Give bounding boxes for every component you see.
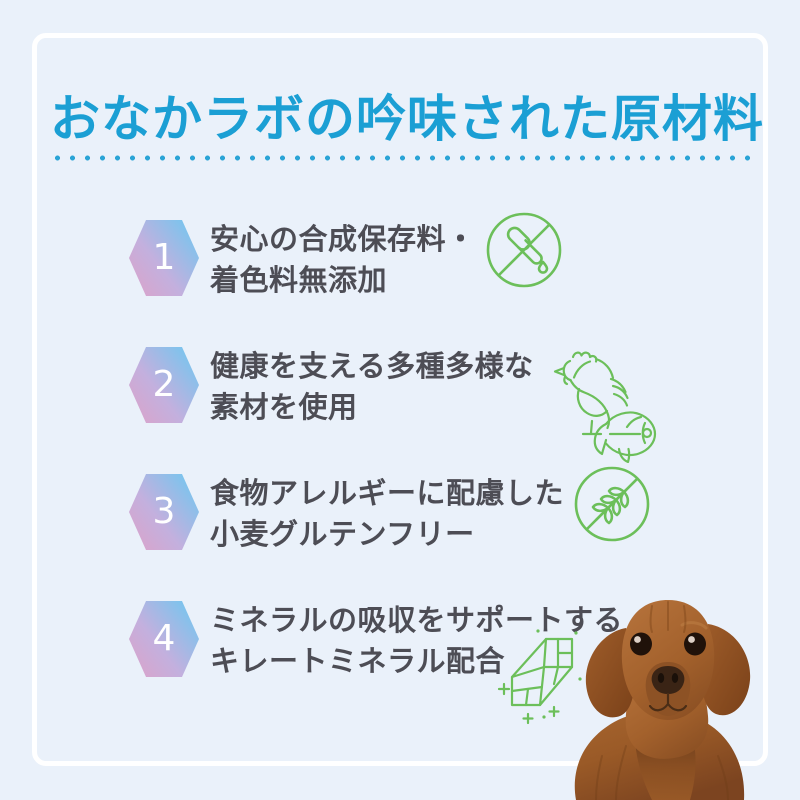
feature-label: ミネラルの吸収をサポートする キレートミネラル配合 (210, 589, 623, 683)
promo-card-page: おなかラボの吟味された原材料 1 安心の合成保存 (0, 0, 800, 800)
no-wheat-icon (568, 460, 656, 553)
feature-label: 安心の合成保存料・ 着色料無添加 (210, 208, 476, 302)
badge-number: 1 (128, 219, 200, 297)
no-dropper-icon (480, 206, 568, 299)
badge-number: 3 (128, 473, 200, 551)
number-badge-hexagon: 4 (128, 600, 200, 678)
list-item: 1 安心の合成保存料・ 着色料無添加 (128, 208, 728, 308)
header: おなかラボの吟味された原材料 (50, 92, 756, 161)
chicken-and-fish-icon (548, 341, 676, 468)
number-badge-hexagon: 1 (128, 219, 200, 297)
number-badge-hexagon: 2 (128, 346, 200, 424)
badge-number: 2 (128, 346, 200, 424)
number-badge-hexagon: 3 (128, 473, 200, 551)
list-item: 3 食物アレルギーに配慮した 小麦グルテンフリー (128, 462, 728, 562)
title-dotted-divider (50, 155, 756, 161)
feature-label: 健康を支える多種多様な 素材を使用 (210, 335, 534, 429)
list-item: 4 ミネラルの吸収をサポートする キレートミネラル配合 (128, 589, 728, 689)
list-item: 2 健康を支える多種多様な 素材を使用 (128, 335, 728, 435)
badge-number: 4 (128, 600, 200, 678)
feature-list: 1 安心の合成保存料・ 着色料無添加 (128, 208, 728, 689)
page-title: おなかラボの吟味された原材料 (50, 92, 756, 146)
feature-label: 食物アレルギーに配慮した 小麦グルテンフリー (210, 462, 564, 556)
